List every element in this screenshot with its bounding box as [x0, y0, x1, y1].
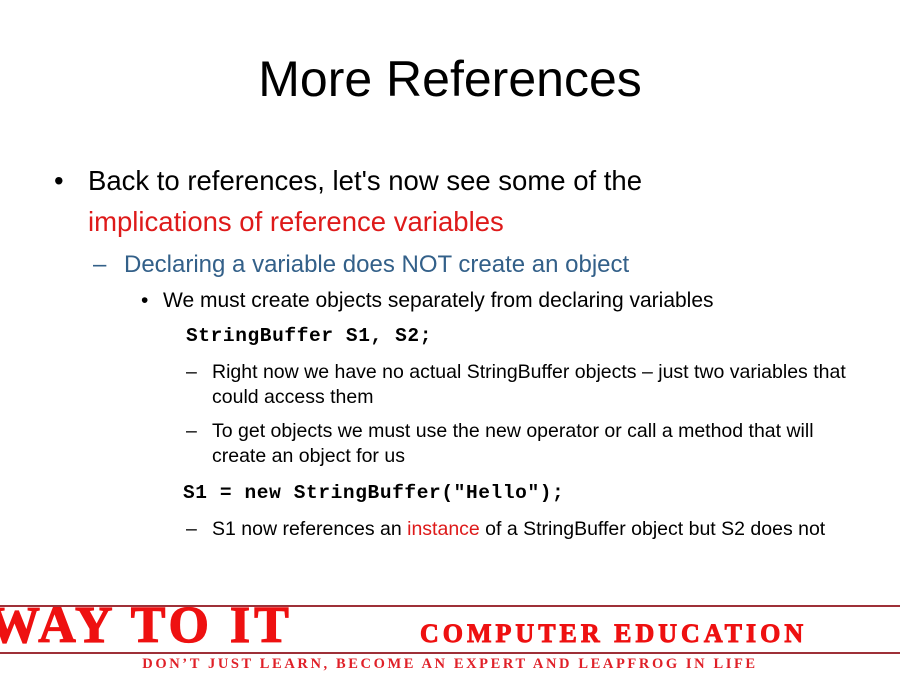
code-line-instantiation: S1 = new StringBuffer("Hello"); [183, 478, 900, 508]
dash-bullet-icon: – [186, 419, 197, 444]
bullet-dot-icon: • [54, 160, 64, 201]
dash-bullet-icon: – [186, 517, 197, 542]
page-title: More References [0, 49, 900, 109]
code-line-declaration: StringBuffer S1, S2; [186, 321, 900, 351]
bullet-level4-item2-text: To get objects we must use the new opera… [212, 420, 814, 467]
bullet-level4-item3-highlight: instance [407, 518, 480, 540]
dash-bullet-icon: – [186, 360, 197, 385]
bullet-level3: • We must create objects separately from… [133, 285, 863, 317]
dash-bullet-icon: – [93, 247, 106, 283]
bullet-level4-item3: – S1 now references an instance of a Str… [182, 517, 860, 542]
bullet-level4-item1-text: Right now we have no actual StringBuffer… [212, 361, 846, 408]
bullet-level4-item3-pre: S1 now references an [212, 518, 407, 540]
bullet-level3-text: We must create objects separately from d… [163, 289, 714, 312]
bullet-level2: – Declaring a variable does NOT create a… [88, 247, 864, 283]
bullet-level1-line1: Back to references, let's now see some o… [88, 165, 642, 196]
slide-body: • Back to references, let's now see some… [0, 160, 900, 542]
brand-tagline: DON’T JUST LEARN, BECOME AN EXPERT AND L… [0, 655, 900, 673]
slide: More References • Back to references, le… [0, 0, 900, 675]
brand-logo-wordmark: WAY TO IT [0, 607, 293, 652]
bullet-dot-icon: • [141, 285, 148, 317]
footer-brand-band: WAY TO IT COMPUTER EDUCATION DON’T JUST … [0, 595, 900, 675]
brand-logo-subtitle: COMPUTER EDUCATION [420, 621, 807, 647]
bullet-level4-item3-post: of a StringBuffer object but S2 does not [480, 518, 825, 540]
footer-logo-row: WAY TO IT COMPUTER EDUCATION [0, 607, 900, 652]
bullet-level1: • Back to references, let's now see some… [46, 160, 858, 242]
bullet-level4-item2: – To get objects we must use the new ope… [182, 419, 860, 469]
footer-rule-bottom [0, 652, 900, 654]
bullet-level4-item1: – Right now we have no actual StringBuff… [182, 360, 860, 410]
bullet-level1-line2-highlight: implications of reference variables [88, 206, 504, 237]
bullet-level2-text: Declaring a variable does NOT create an … [124, 251, 629, 278]
